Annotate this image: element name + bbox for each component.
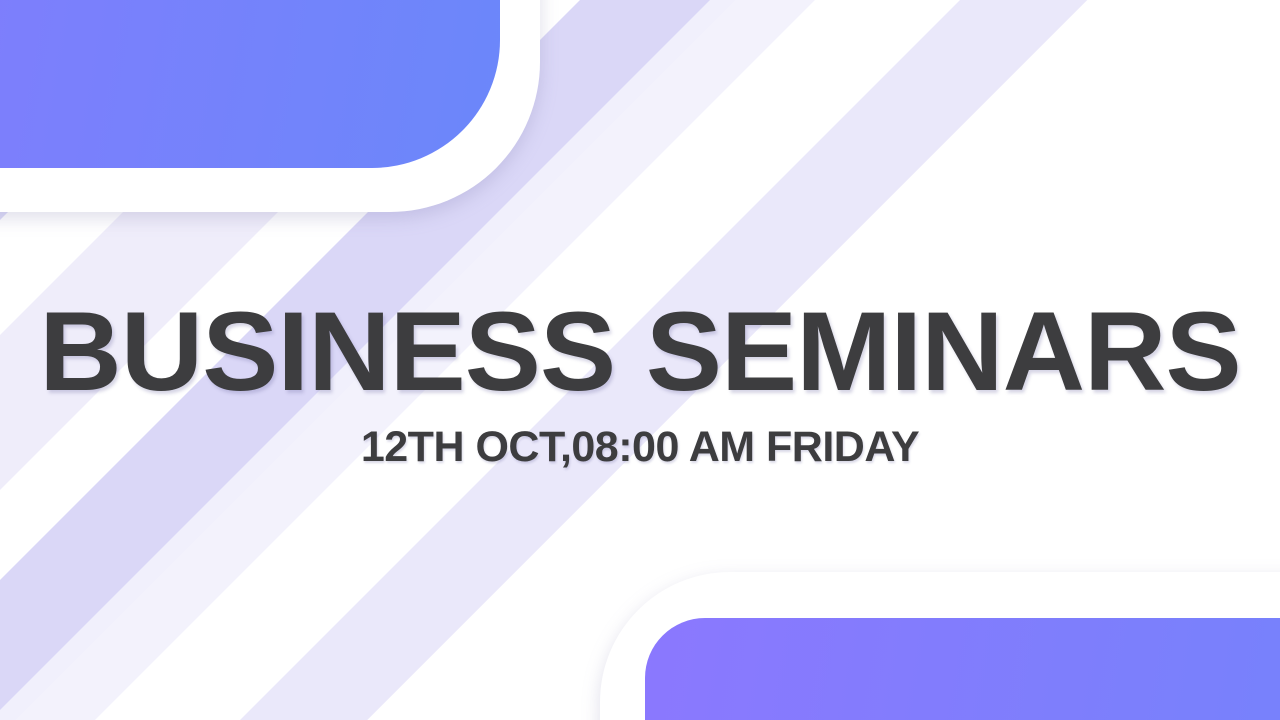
poster-title: BUSINESS SEMINARS xyxy=(0,296,1280,408)
bottom-right-gradient-panel xyxy=(645,618,1280,720)
headline-block: BUSINESS SEMINARS 12TH OCT,08:00 AM FRID… xyxy=(0,296,1280,469)
poster-subtitle: 12TH OCT,08:00 AM FRIDAY xyxy=(0,426,1280,469)
top-left-gradient-panel xyxy=(0,0,500,168)
poster-canvas: BUSINESS SEMINARS 12TH OCT,08:00 AM FRID… xyxy=(0,0,1280,720)
